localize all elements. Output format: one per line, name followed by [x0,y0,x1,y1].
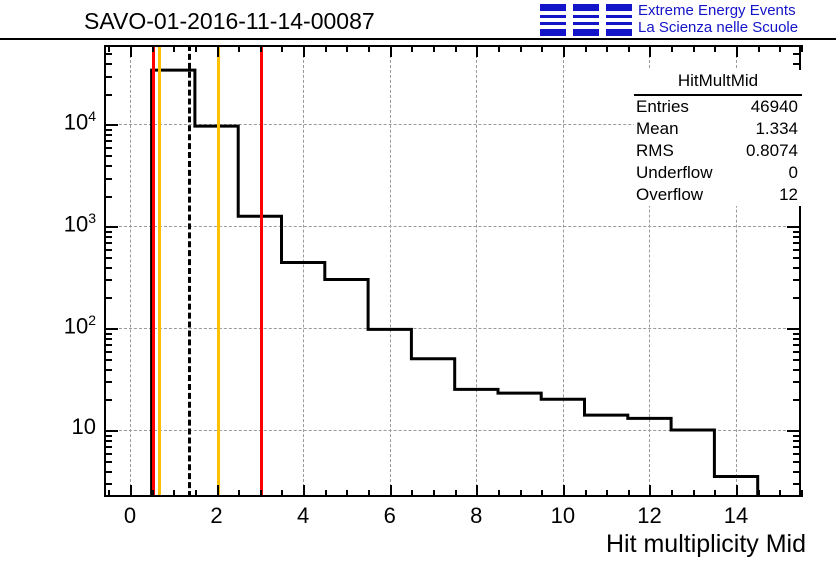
stats-row: Overflow12 [634,184,802,206]
stats-row-value: 0 [789,163,798,183]
stats-row-label: Overflow [636,185,703,205]
logo-letter-e-3 [606,4,632,36]
stats-row-label: Entries [636,97,689,117]
stats-box: HitMultMid Entries46940Mean1.334RMS0.807… [634,70,802,206]
eee-logo-text: Extreme Energy Events La Scienza nelle S… [638,2,798,36]
x-tick-label: 6 [360,503,420,529]
eee-logo: Extreme Energy Events La Scienza nelle S… [540,2,832,38]
stats-box-rows: Entries46940Mean1.334RMS0.8074Underflow0… [634,96,802,206]
x-tick-label: 0 [100,503,160,529]
x-tick [801,45,803,52]
stats-row-label: RMS [636,141,674,161]
stats-row-value: 1.334 [755,119,798,139]
stats-row: Entries46940 [634,96,802,118]
stats-row-label: Underflow [636,163,713,183]
x-tick-label: 4 [273,503,333,529]
stats-row: Mean1.334 [634,118,802,140]
x-tick-label: 12 [619,503,679,529]
stats-row-value: 46940 [751,97,798,117]
x-axis-title: Hit multiplicity Mid [606,530,806,559]
stats-row-value: 12 [779,185,798,205]
stats-row: RMS0.8074 [634,140,802,162]
stats-row-label: Mean [636,119,679,139]
x-tick-label: 10 [533,503,593,529]
x-tick-label: 8 [446,503,506,529]
eee-logo-line1: Extreme Energy Events [638,2,798,19]
header-divider [0,38,836,40]
y-tick-label: 10 [26,414,96,440]
eee-logo-line2: La Scienza nelle Scuole [638,19,798,36]
x-tick-label: 14 [706,503,766,529]
logo-letter-e-2 [573,4,599,36]
page-title: SAVO-01-2016-11-14-00087 [84,8,375,35]
eee-logo-letters [540,4,632,36]
x-tick [801,490,803,497]
stats-row: Underflow0 [634,162,802,184]
y-tick-label: 102 [26,312,96,339]
stats-box-title: HitMultMid [634,70,802,96]
stats-row-value: 0.8074 [746,141,798,161]
y-tick-label: 103 [26,210,96,237]
x-tick-label: 2 [187,503,247,529]
logo-letter-e-1 [540,4,566,36]
y-tick-label: 104 [26,108,96,135]
